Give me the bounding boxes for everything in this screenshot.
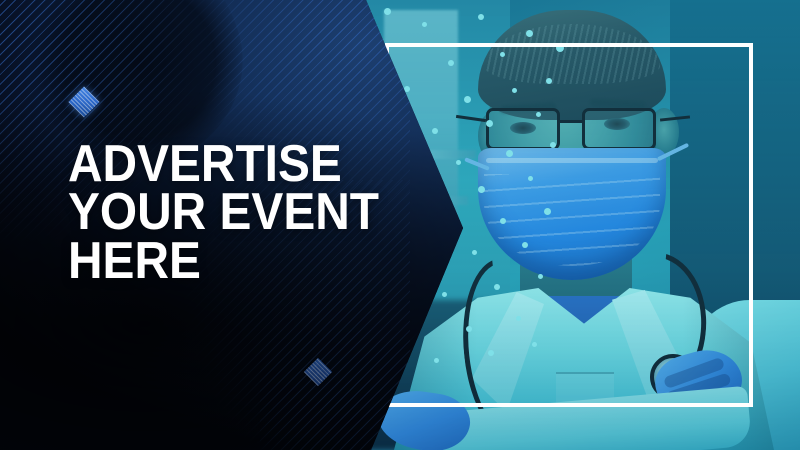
eyeglass-lens-right [582,108,656,150]
advertisement-banner: ADVERTISE YOUR EVENT HERE [0,0,800,450]
headline-line-3: HERE [68,237,379,285]
eyeglass-lens-left [486,108,560,150]
headline-text: ADVERTISE YOUR EVENT HERE [68,140,379,285]
headline-line-2: YOUR EVENT [68,188,379,236]
surgical-mask-icon [478,148,666,280]
headline-line-1: ADVERTISE [68,140,379,188]
eyeglass-bridge [560,120,584,123]
eyeglass-temple-left [456,115,486,122]
surgical-mask-pleats [484,174,660,266]
